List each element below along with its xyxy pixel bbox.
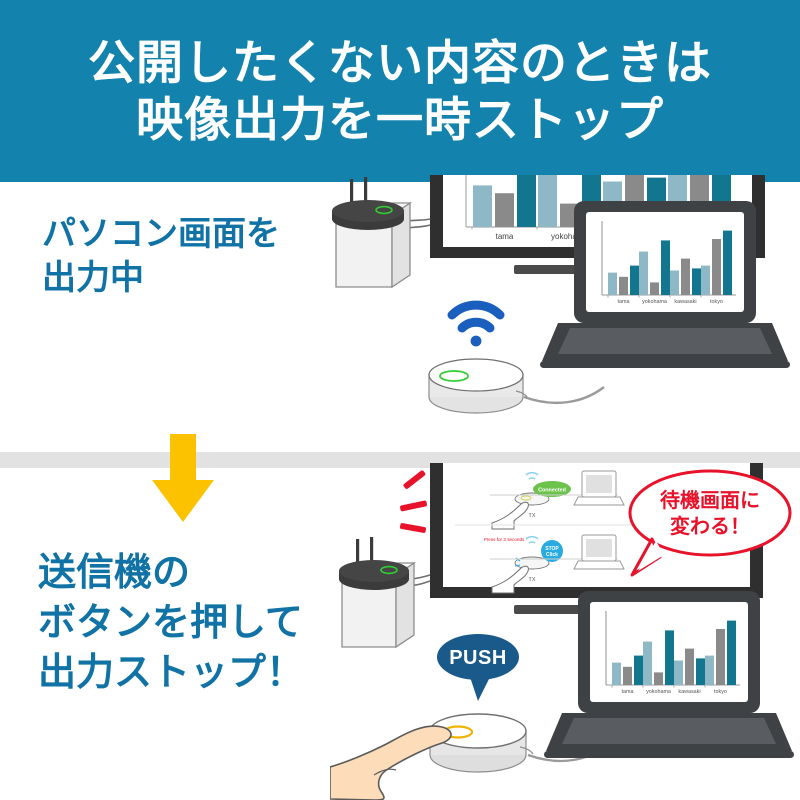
- bar-tokyo-series-1: [705, 656, 714, 685]
- receiver-unit-top: [429, 359, 528, 413]
- bar-tama-series-1: [612, 663, 621, 685]
- push-bubble-label: PUSH: [449, 647, 507, 669]
- caption-top-line-1: パソコン画面を: [42, 212, 280, 256]
- bar-tama-series-1: [608, 273, 617, 295]
- chart-xtick-tama: tama: [622, 689, 634, 695]
- bar-yokohama-series-1: [538, 175, 557, 227]
- chart-xtick-kawasaki: kawasaki: [678, 689, 700, 695]
- transmitter-unit-bottom: [339, 537, 414, 647]
- bar-tama-series-2: [495, 193, 514, 227]
- bar-tama-series-3: [517, 175, 536, 227]
- standby-badge-connected-label: Connected: [538, 488, 566, 494]
- laptop-top: tamayokohamakawasakitokyo: [540, 201, 790, 368]
- down-arrow-icon: [150, 434, 216, 524]
- caption-bottom: 送信機の ボタンを押して 出力ストップ！: [38, 548, 304, 698]
- bar-yokohama-series-1: [639, 252, 648, 295]
- transmitter-unit-top: [332, 177, 410, 287]
- bar-yokohama-series-3: [661, 240, 670, 295]
- bar-tama-series-2: [623, 667, 632, 685]
- laptop-bottom: tamayokohamakawasakitokyo: [544, 591, 794, 758]
- chart-xtick-tama: tama: [496, 232, 514, 241]
- pointing-hand: [330, 726, 451, 800]
- standby-panel-2-caption: TX: [529, 577, 536, 583]
- header-banner: 公開したくない内容のときは 映像出力を一時ストップ: [0, 0, 800, 182]
- bar-tama-series-3: [630, 266, 639, 295]
- illustration-page: 公開したくない内容のときは 映像出力を一時ストップ パソコン画面を 出力中 送信…: [0, 0, 800, 800]
- bar-yokohama-series-2: [650, 282, 659, 295]
- chart-xtick-yokohama: yokohama: [642, 299, 667, 305]
- caption-top-line-2: 出力中: [42, 256, 280, 300]
- bar-tama-series-2: [619, 277, 628, 295]
- bar-kawasaki-series-2: [685, 649, 694, 685]
- push-bubble: PUSH: [437, 634, 519, 701]
- bar-kawasaki-series-2: [681, 259, 690, 295]
- bar-tama-series-3: [634, 656, 643, 685]
- bar-tokyo-series-3: [727, 621, 736, 685]
- standby-panel-2-hint: Press for 3 seconds: [484, 537, 525, 542]
- bar-kawasaki-series-1: [670, 271, 679, 296]
- bar-tokyo-series-1: [701, 266, 710, 295]
- caption-bottom-line-1: 送信機の: [38, 548, 304, 598]
- chart-xtick-tokyo: tokyo: [714, 689, 727, 695]
- standby-panel-1-caption: TX: [529, 513, 536, 519]
- bar-kawasaki-series-3: [692, 268, 701, 295]
- bar-tokyo-series-2: [716, 629, 725, 685]
- wifi-icon: [452, 305, 500, 346]
- chart-xtick-kawasaki: kawasaki: [674, 299, 696, 305]
- caption-bottom-line-2: ボタンを押して: [38, 598, 304, 648]
- chart-xtick-tama: tama: [618, 299, 630, 305]
- bar-tama-series-1: [473, 185, 492, 227]
- speech-bubble-line-2: 変わる！: [670, 514, 750, 538]
- bar-yokohama-series-3: [665, 630, 674, 685]
- receiver-unit-bottom: [430, 714, 533, 772]
- chart-xtick-yokohama: yokohama: [646, 689, 671, 695]
- speech-bubble-line-1: 待機画面に: [660, 488, 760, 512]
- chart-xtick-tokyo: tokyo: [710, 299, 723, 305]
- bar-kawasaki-series-1: [674, 661, 683, 686]
- caption-bottom-line-3: 出力ストップ！: [38, 648, 304, 698]
- caption-top: パソコン画面を 出力中: [42, 212, 280, 300]
- bar-tokyo-series-3: [723, 231, 732, 295]
- standby-badge-stop-line2: Click: [546, 552, 558, 558]
- flash-lines-icon: [400, 470, 428, 534]
- banner-line-1: 公開したくない内容のときは: [88, 34, 712, 91]
- banner-line-2: 映像出力を一時ストップ: [136, 91, 664, 148]
- bar-kawasaki-series-3: [696, 658, 705, 685]
- bar-yokohama-series-2: [654, 672, 663, 685]
- bar-tokyo-series-2: [712, 239, 721, 295]
- bar-yokohama-series-1: [643, 642, 652, 685]
- scene-output-stopped: Connected TX Press for 3 seconds: [330, 455, 800, 800]
- scene-outputting: tamayokohamakawasakitokyo: [318, 175, 800, 447]
